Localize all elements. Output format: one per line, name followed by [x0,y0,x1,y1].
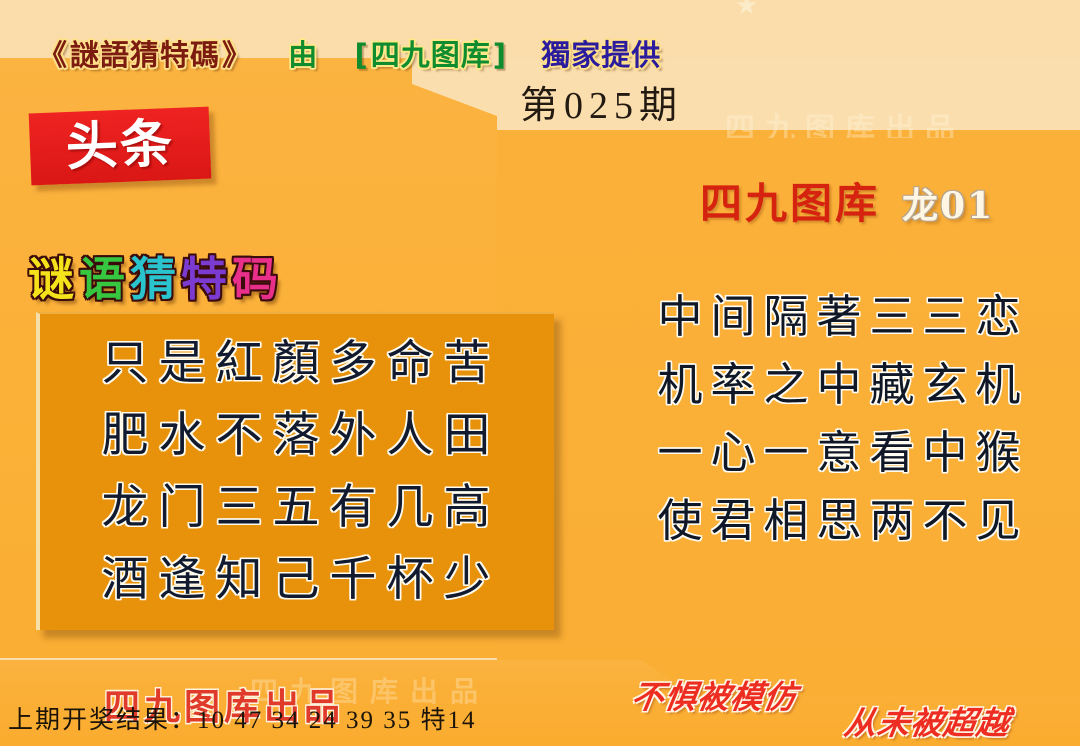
riddle-line: 酒逢知己千杯少 [40,544,554,616]
rainbow-title: 谜语猜特码 [28,243,283,309]
poster-canvas: ★ 四九图库出品 四九图库出品 《謎語猜特碼》 由 [四九图库] 獨家提供 第0… [0,0,1080,746]
rainbow-char-1: 语 [79,243,127,309]
watermark-ghost-top: 四九图库出品 [725,104,1075,138]
rainbow-char-2: 猜 [130,243,178,309]
poem-line: 机率之中藏玄机 [608,351,1078,419]
header-source-name: 四九图库 [371,38,491,72]
brand-name: 四九图库 [700,179,880,228]
header-exclusive-text: 獨家提供 [541,38,661,72]
last-draw-result: 上期开奖结果：10 47 34 24 39 35 特14 [8,700,477,736]
slogan-left: 不惧被模仿 [628,672,800,718]
star-icon: ★ [735,0,763,16]
header-title-line: 《謎語猜特碼》 由 [四九图库] 獨家提供 [38,32,663,74]
rainbow-char-4: 码 [232,243,280,309]
riddle-box: 只是紅顏多命苦 肥水不落外人田 龙门三五有几高 酒逢知己千杯少 [36,312,554,630]
headline-badge-label: 头条 [65,118,175,174]
poem-line: 中间隔著三三恋 [608,283,1078,351]
riddle-line: 龙门三五有几高 [40,472,554,544]
issue-number: 第025期 [520,74,683,129]
header-bracket-close: 》 [222,38,252,72]
riddle-line: 肥水不落外人田 [40,400,554,472]
slogan-right: 从未被超越 [841,698,1013,744]
header-source-bracket-open: [ [355,38,369,72]
riddle-line: 只是紅顏多命苦 [40,328,554,400]
brand-row: 四九图库龙01 [700,170,994,231]
poem-line: 使君相思两不见 [608,487,1078,555]
header-by-word: 由 [288,38,318,72]
brand-zodiac-code: 龙01 [902,185,994,227]
header-source-bracket-close: ] [493,38,507,72]
rainbow-char-3: 特 [181,243,229,309]
rainbow-char-0: 谜 [28,243,76,309]
poem-line: 一心一意看中猴 [608,419,1078,487]
poem-block: 中间隔著三三恋 机率之中藏玄机 一心一意看中猴 使君相思两不见 [608,283,1078,555]
header-title-main: 謎語猜特碼 [70,38,220,72]
headline-badge: 头条 [29,107,212,186]
header-bracket-open: 《 [38,38,68,72]
